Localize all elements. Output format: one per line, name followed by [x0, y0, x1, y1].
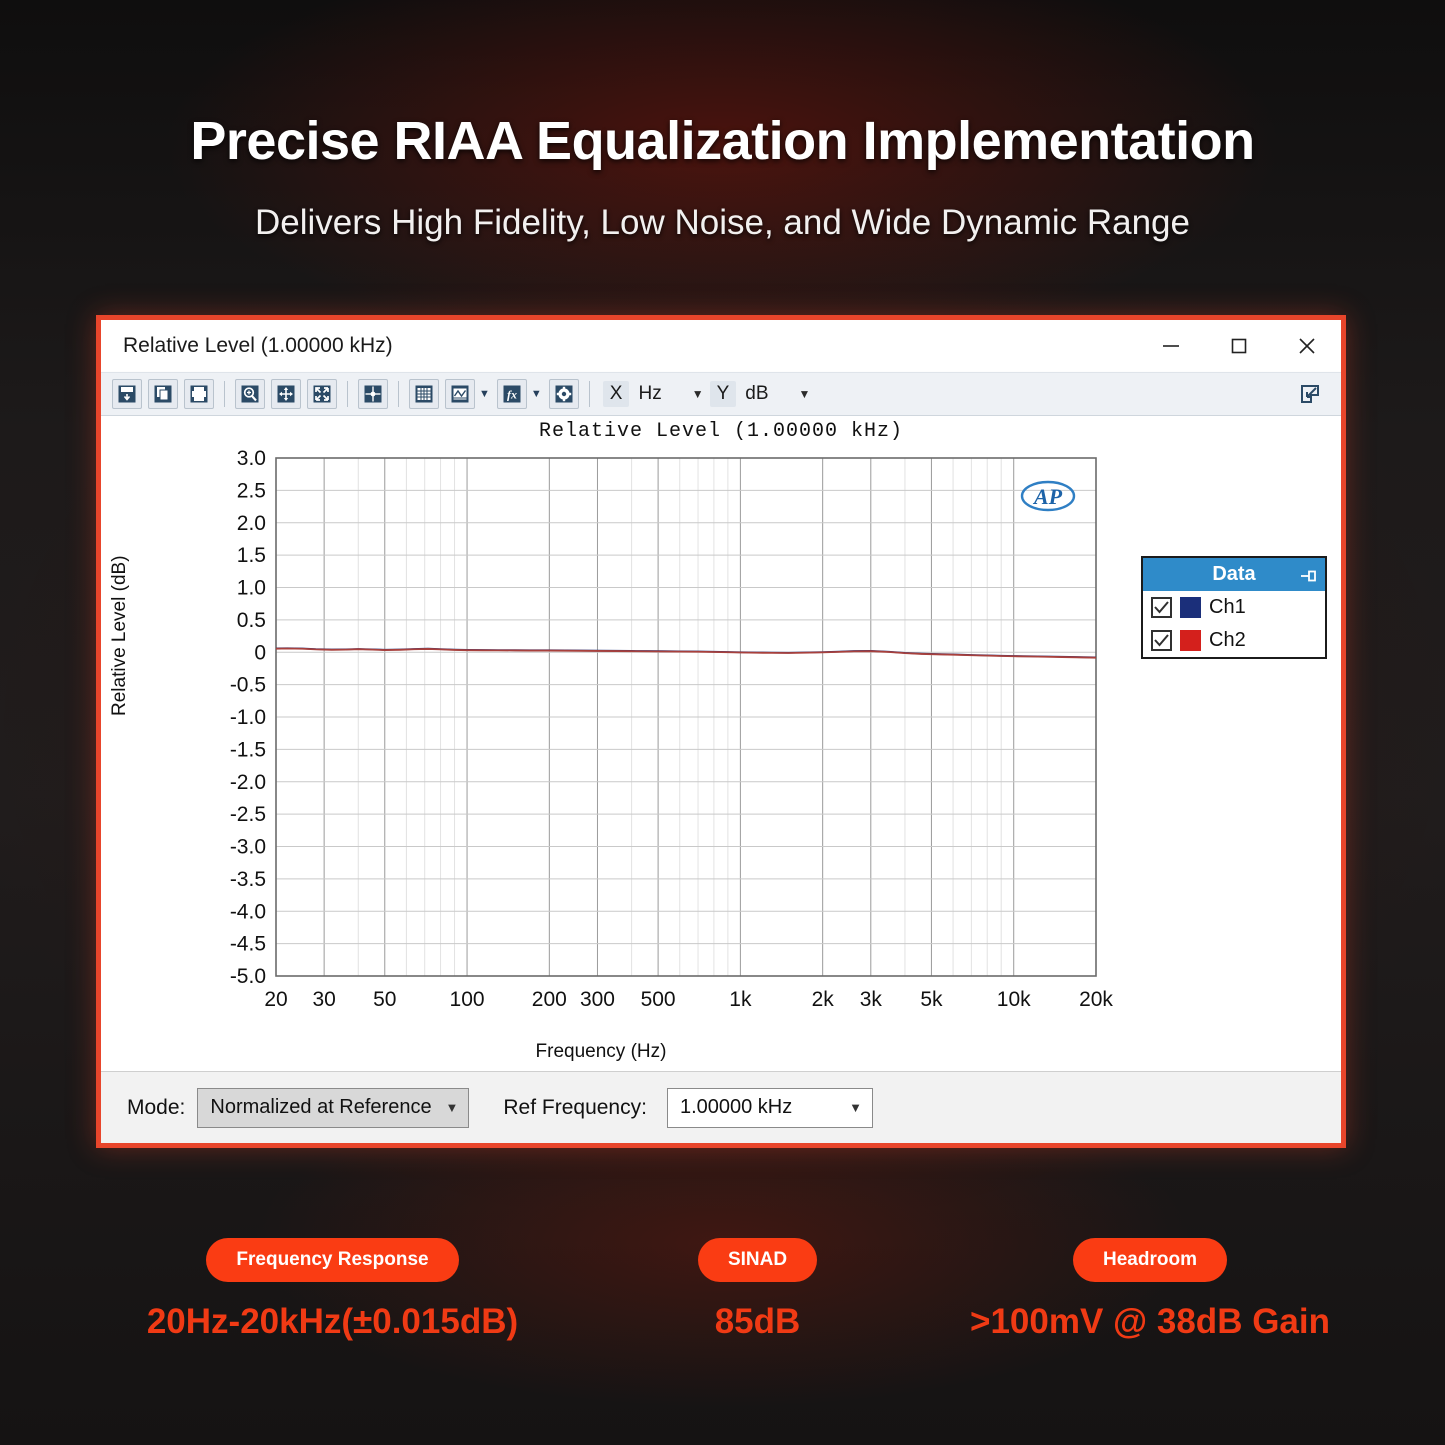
svg-text:fx: fx [507, 388, 517, 402]
svg-text:-3.0: -3.0 [230, 836, 266, 859]
data-legend-header: Data [1143, 558, 1325, 591]
data-legend-title: Data [1212, 563, 1255, 585]
page-root: Precise RIAA Equalization Implementation… [0, 0, 1445, 1445]
svg-text:-4.0: -4.0 [230, 900, 266, 923]
pin-icon[interactable] [1299, 566, 1317, 589]
toolbar-divider [589, 381, 590, 407]
svg-text:300: 300 [580, 988, 615, 1011]
svg-text:3.0: 3.0 [237, 447, 266, 470]
x-unit-dropdown-caret-icon[interactable]: ▼ [692, 387, 704, 401]
svg-text:-4.5: -4.5 [230, 933, 266, 956]
x-axis-unit: Hz [638, 383, 661, 405]
legend-row[interactable]: Ch1 [1143, 591, 1325, 624]
svg-text:1k: 1k [729, 988, 752, 1011]
svg-text:0.5: 0.5 [237, 609, 266, 632]
pan-icon[interactable] [271, 379, 301, 409]
spec-frequency-response: Frequency Response 20Hz-20kHz(±0.015dB) [110, 1238, 555, 1342]
y-axis-unit: dB [745, 383, 768, 405]
cursor-icon[interactable] [358, 379, 388, 409]
frequency-response-plot: 3.02.52.01.51.00.50-0.5-1.0-1.5-2.0-2.5-… [101, 416, 1341, 1076]
maximize-icon[interactable] [1205, 320, 1273, 372]
zoom-icon[interactable] [235, 379, 265, 409]
mode-label: Mode: [127, 1096, 185, 1120]
close-icon[interactable] [1273, 320, 1341, 372]
legend-checkbox[interactable] [1151, 630, 1172, 651]
page-subtitle: Delivers High Fidelity, Low Noise, and W… [0, 203, 1445, 243]
minimize-icon[interactable] [1137, 320, 1205, 372]
print-icon[interactable] [184, 379, 214, 409]
svg-text:-3.5: -3.5 [230, 868, 266, 891]
svg-text:3k: 3k [860, 988, 883, 1011]
svg-text:500: 500 [641, 988, 676, 1011]
window-title: Relative Level (1.00000 kHz) [123, 334, 393, 358]
settings-icon[interactable] [549, 379, 579, 409]
svg-text:-5.0: -5.0 [230, 965, 266, 988]
legend-color-swatch [1180, 597, 1201, 618]
svg-text:-2.5: -2.5 [230, 803, 266, 826]
spec-headroom: Headroom >100mV @ 38dB Gain [955, 1238, 1345, 1342]
ref-frequency-value: 1.00000 kHz [680, 1096, 792, 1119]
x-axis-button[interactable]: X [603, 381, 630, 407]
y-axis-button[interactable]: Y [710, 381, 737, 407]
svg-text:-1.5: -1.5 [230, 738, 266, 761]
graph-area: Relative Level (1.00000 kHz) 2024/10/24 … [101, 416, 1341, 1071]
svg-text:AP: AP [1032, 484, 1063, 509]
legend-label: Ch1 [1209, 596, 1246, 619]
data-legend-panel: Data Ch1Ch2 [1141, 556, 1327, 659]
save-icon[interactable] [112, 379, 142, 409]
svg-text:1.5: 1.5 [237, 544, 266, 567]
fx-dropdown-caret-icon[interactable]: ▼ [531, 388, 542, 400]
page-title: Precise RIAA Equalization Implementation [0, 110, 1445, 172]
fit-icon[interactable] [307, 379, 337, 409]
graph-toolbar: ▼ fx ▼ X Hz ▼ Y dB ▼ [101, 372, 1341, 416]
legend-row[interactable]: Ch2 [1143, 624, 1325, 657]
collapse-arrow-icon[interactable] [1293, 377, 1327, 411]
svg-text:1.0: 1.0 [237, 577, 266, 600]
svg-text:-1.0: -1.0 [230, 706, 266, 729]
toolbar-divider [398, 381, 399, 407]
mode-select-value: Normalized at Reference [210, 1096, 431, 1119]
svg-text:20: 20 [264, 988, 287, 1011]
svg-text:100: 100 [450, 988, 485, 1011]
spec-value: >100mV @ 38dB Gain [955, 1302, 1345, 1342]
spec-sinad: SINAD 85dB [560, 1238, 955, 1342]
window-titlebar: Relative Level (1.00000 kHz) [101, 320, 1341, 372]
graph-footer-controls: Mode: Normalized at Reference ▼ Ref Freq… [101, 1071, 1341, 1143]
chevron-down-icon: ▼ [446, 1100, 459, 1115]
legend-color-swatch [1180, 630, 1201, 651]
spec-pill-label: SINAD [698, 1238, 817, 1282]
svg-text:5k: 5k [920, 988, 943, 1011]
spec-pill-label: Frequency Response [206, 1238, 458, 1282]
window-controls [1137, 320, 1341, 372]
ref-frequency-select[interactable]: 1.00000 kHz ▼ [667, 1088, 873, 1128]
spec-badges: Frequency Response 20Hz-20kHz(±0.015dB) … [0, 1238, 1445, 1398]
graph-icon[interactable] [445, 379, 475, 409]
svg-text:0: 0 [254, 641, 266, 664]
spec-value: 20Hz-20kHz(±0.015dB) [110, 1302, 555, 1342]
svg-text:50: 50 [373, 988, 396, 1011]
legend-label: Ch2 [1209, 629, 1246, 652]
svg-text:2.0: 2.0 [237, 512, 266, 535]
svg-text:-2.0: -2.0 [230, 771, 266, 794]
spec-value: 85dB [560, 1302, 955, 1342]
ref-frequency-label: Ref Frequency: [503, 1096, 647, 1120]
toolbar-divider [224, 381, 225, 407]
svg-text:2k: 2k [812, 988, 835, 1011]
svg-text:-0.5: -0.5 [230, 674, 266, 697]
mode-select[interactable]: Normalized at Reference ▼ [197, 1088, 469, 1128]
svg-text:30: 30 [312, 988, 335, 1011]
ap-analyzer-window: Relative Level (1.00000 kHz) [96, 315, 1346, 1148]
graph-dropdown-caret-icon[interactable]: ▼ [479, 388, 490, 400]
svg-text:20k: 20k [1079, 988, 1113, 1011]
y-unit-dropdown-caret-icon[interactable]: ▼ [799, 387, 811, 401]
legend-checkbox[interactable] [1151, 597, 1172, 618]
svg-text:10k: 10k [997, 988, 1031, 1011]
chevron-down-icon: ▼ [849, 1100, 862, 1115]
table-icon[interactable] [409, 379, 439, 409]
spec-pill-label: Headroom [1073, 1238, 1227, 1282]
toolbar-divider [347, 381, 348, 407]
fx-icon[interactable]: fx [497, 379, 527, 409]
svg-text:2.5: 2.5 [237, 479, 266, 502]
svg-text:200: 200 [532, 988, 567, 1011]
copy-icon[interactable] [148, 379, 178, 409]
